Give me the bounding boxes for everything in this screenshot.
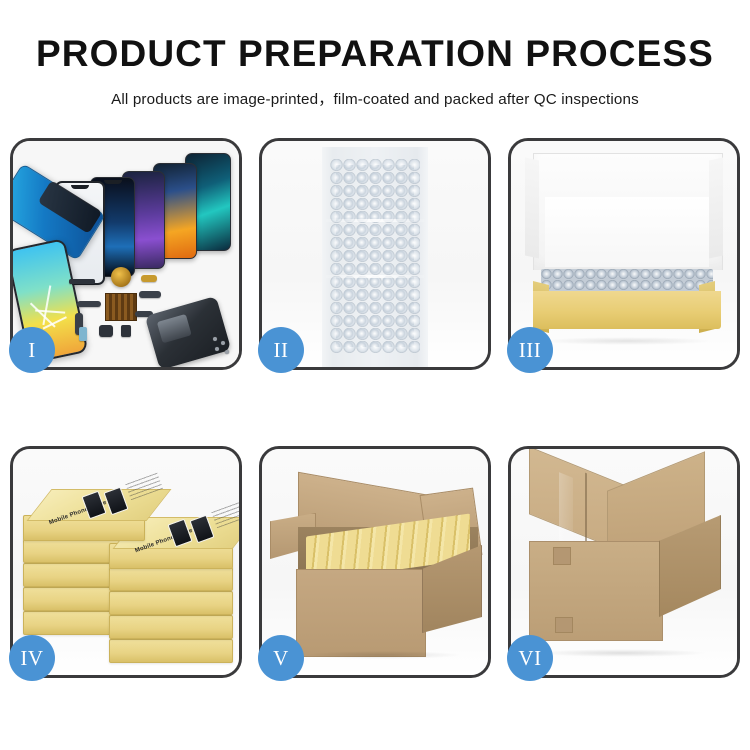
retail-box-layer-8 — [109, 567, 233, 591]
step-badge-3: III — [507, 327, 553, 373]
step-panel-4: Mobile Phone Spare Parts Mobile Phone Sp… — [10, 446, 242, 678]
page-subtitle: All products are image-printed，film-coat… — [0, 75, 750, 109]
bubble-pattern-back — [336, 165, 414, 347]
screws-group — [211, 335, 233, 357]
product-preparation-infographic: PRODUCT PREPARATION PROCESS All products… — [0, 0, 750, 750]
retail-box-stack: Mobile Phone Spare Parts Mobile Phone Sp… — [21, 471, 235, 667]
earpiece-mesh-part — [69, 279, 95, 284]
step-panel-3: III — [508, 138, 740, 370]
step-badge-1: I — [9, 327, 55, 373]
speaker-coil-part — [111, 267, 131, 287]
foam-sheet — [545, 197, 709, 267]
sealed-carton-top-seam — [585, 473, 587, 546]
carton-front-face — [296, 569, 426, 657]
step-badge-5: V — [258, 635, 304, 681]
retail-box-layer-5 — [109, 639, 233, 663]
carton-shadow — [302, 651, 462, 659]
kraft-tray-front — [533, 291, 721, 329]
inner-box-shadow — [541, 337, 713, 345]
inner-box-lid-fold-right — [709, 158, 723, 259]
chip-array-part — [105, 293, 137, 321]
step-panel-6: VI — [508, 446, 740, 678]
sealed-carton-shadow — [537, 649, 707, 657]
steps-grid: I II — [10, 138, 740, 678]
step-badge-4: IV — [9, 635, 55, 681]
step-panel-5: V — [259, 446, 491, 678]
header: PRODUCT PREPARATION PROCESS All products… — [0, 0, 750, 109]
page-title: PRODUCT PREPARATION PROCESS — [0, 0, 750, 75]
sealed-carton-front-face — [529, 541, 663, 641]
vibrator-part — [121, 325, 131, 337]
step-badge-6: VI — [507, 635, 553, 681]
carton-flap-mark-top — [553, 547, 571, 565]
bubble-wrap-sleeve — [322, 147, 428, 367]
step-panel-1: I — [10, 138, 242, 370]
step-badge-2: II — [258, 327, 304, 373]
camera-module-part — [99, 325, 113, 337]
retail-box-layer-6 — [109, 615, 233, 639]
flex-cable-part-c — [139, 291, 161, 298]
step-panel-2: II — [259, 138, 491, 370]
wrap-seam-top — [326, 219, 424, 222]
inner-box-lid-fold-left — [525, 158, 539, 259]
carton-flap-mark-bottom — [555, 617, 573, 633]
wrap-seam-mid — [326, 275, 424, 278]
sim-tray-part — [79, 327, 87, 341]
retail-box-layer-7 — [109, 591, 233, 615]
gold-flex-part — [141, 275, 157, 282]
flex-cable-part-a — [77, 301, 101, 307]
